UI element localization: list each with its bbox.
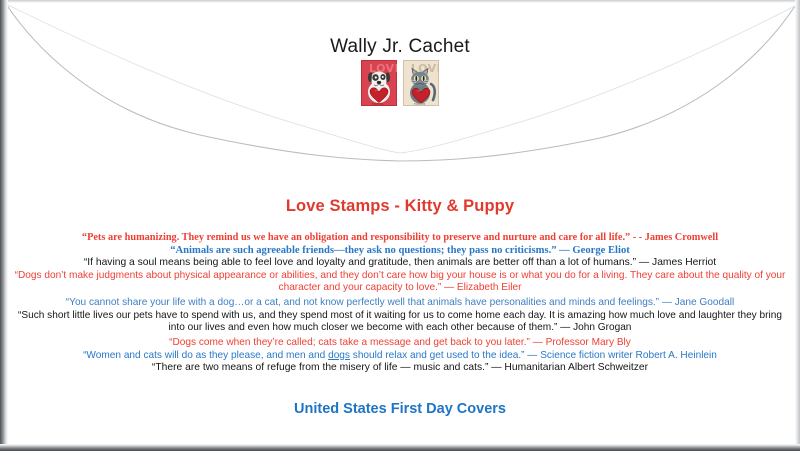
quote-grogan: “Such short little lives our pets have t… xyxy=(13,310,787,335)
footer-publisher: United States First Day Covers xyxy=(0,401,800,417)
quote-cromwell: “Pets are humanizing. They remind us we … xyxy=(13,232,787,245)
headline-love-stamps: Love Stamps - Kitty & Puppy xyxy=(0,197,800,216)
quote-heinlein: “Women and cats will do as they please, … xyxy=(13,350,787,363)
puppy-love-stamp: LOVE FOREVER xyxy=(361,60,397,106)
scan-edge-left xyxy=(0,0,8,451)
quote-heinlein-text-after: should relax and get used to the idea.” … xyxy=(350,350,717,361)
quote-heinlein-text-before: “Women and cats will do as they please, … xyxy=(83,350,328,361)
quote-schweitzer: “There are two means of refuge from the … xyxy=(50,362,750,375)
quote-herriot: “If having a soul means being able to fe… xyxy=(13,257,787,270)
quote-eiler: “Dogs don’t make judgments about physica… xyxy=(13,270,787,295)
stamp-row: LOVE FOREVER xyxy=(0,60,800,106)
quote-heinlein-link-dogs[interactable]: dogs xyxy=(328,350,350,361)
scan-edge-right xyxy=(795,0,800,451)
scan-edge-bottom xyxy=(0,444,800,451)
quotes-block: “Pets are humanizing. They remind us we … xyxy=(12,232,788,375)
cachet-title: Wally Jr. Cachet xyxy=(0,36,800,58)
scan-edge-top xyxy=(0,0,800,3)
svg-text:FOREVER: FOREVER xyxy=(414,103,426,106)
envelope-first-day-cover: Wally Jr. Cachet LOVE xyxy=(0,0,800,451)
kitty-love-stamp: LOVE FOREVER xyxy=(403,60,439,106)
quote-goodall: “You cannot share your life with a dog…o… xyxy=(13,297,787,310)
quote-bly: “Dogs come when they’re called; cats tak… xyxy=(50,337,750,350)
quote-eliot: “Animals are such agreeable friends—they… xyxy=(50,245,750,258)
svg-text:FOREVER: FOREVER xyxy=(372,103,384,106)
